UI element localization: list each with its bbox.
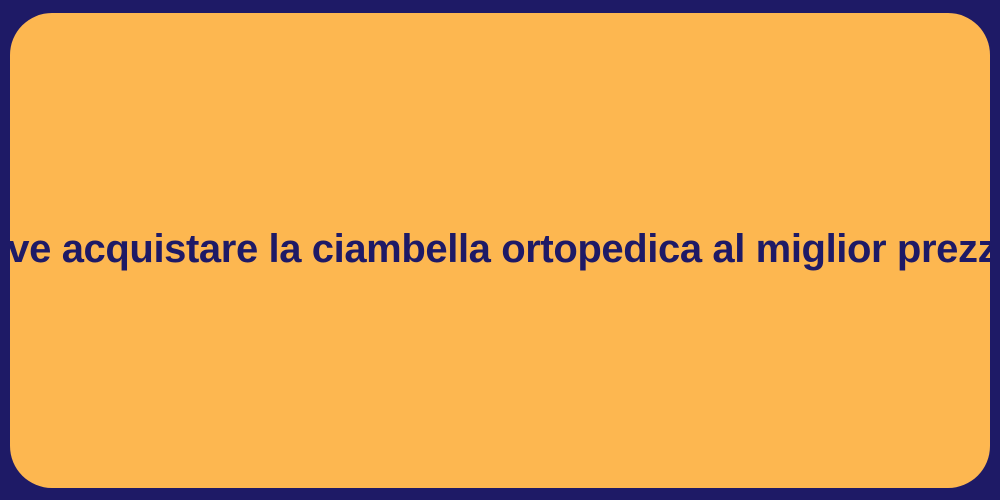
page-title: Dove acquistare la ciambella ortopedica …	[10, 226, 990, 273]
banner-panel: Dove acquistare la ciambella ortopedica …	[10, 13, 990, 488]
banner-frame: Dove acquistare la ciambella ortopedica …	[0, 0, 1000, 500]
